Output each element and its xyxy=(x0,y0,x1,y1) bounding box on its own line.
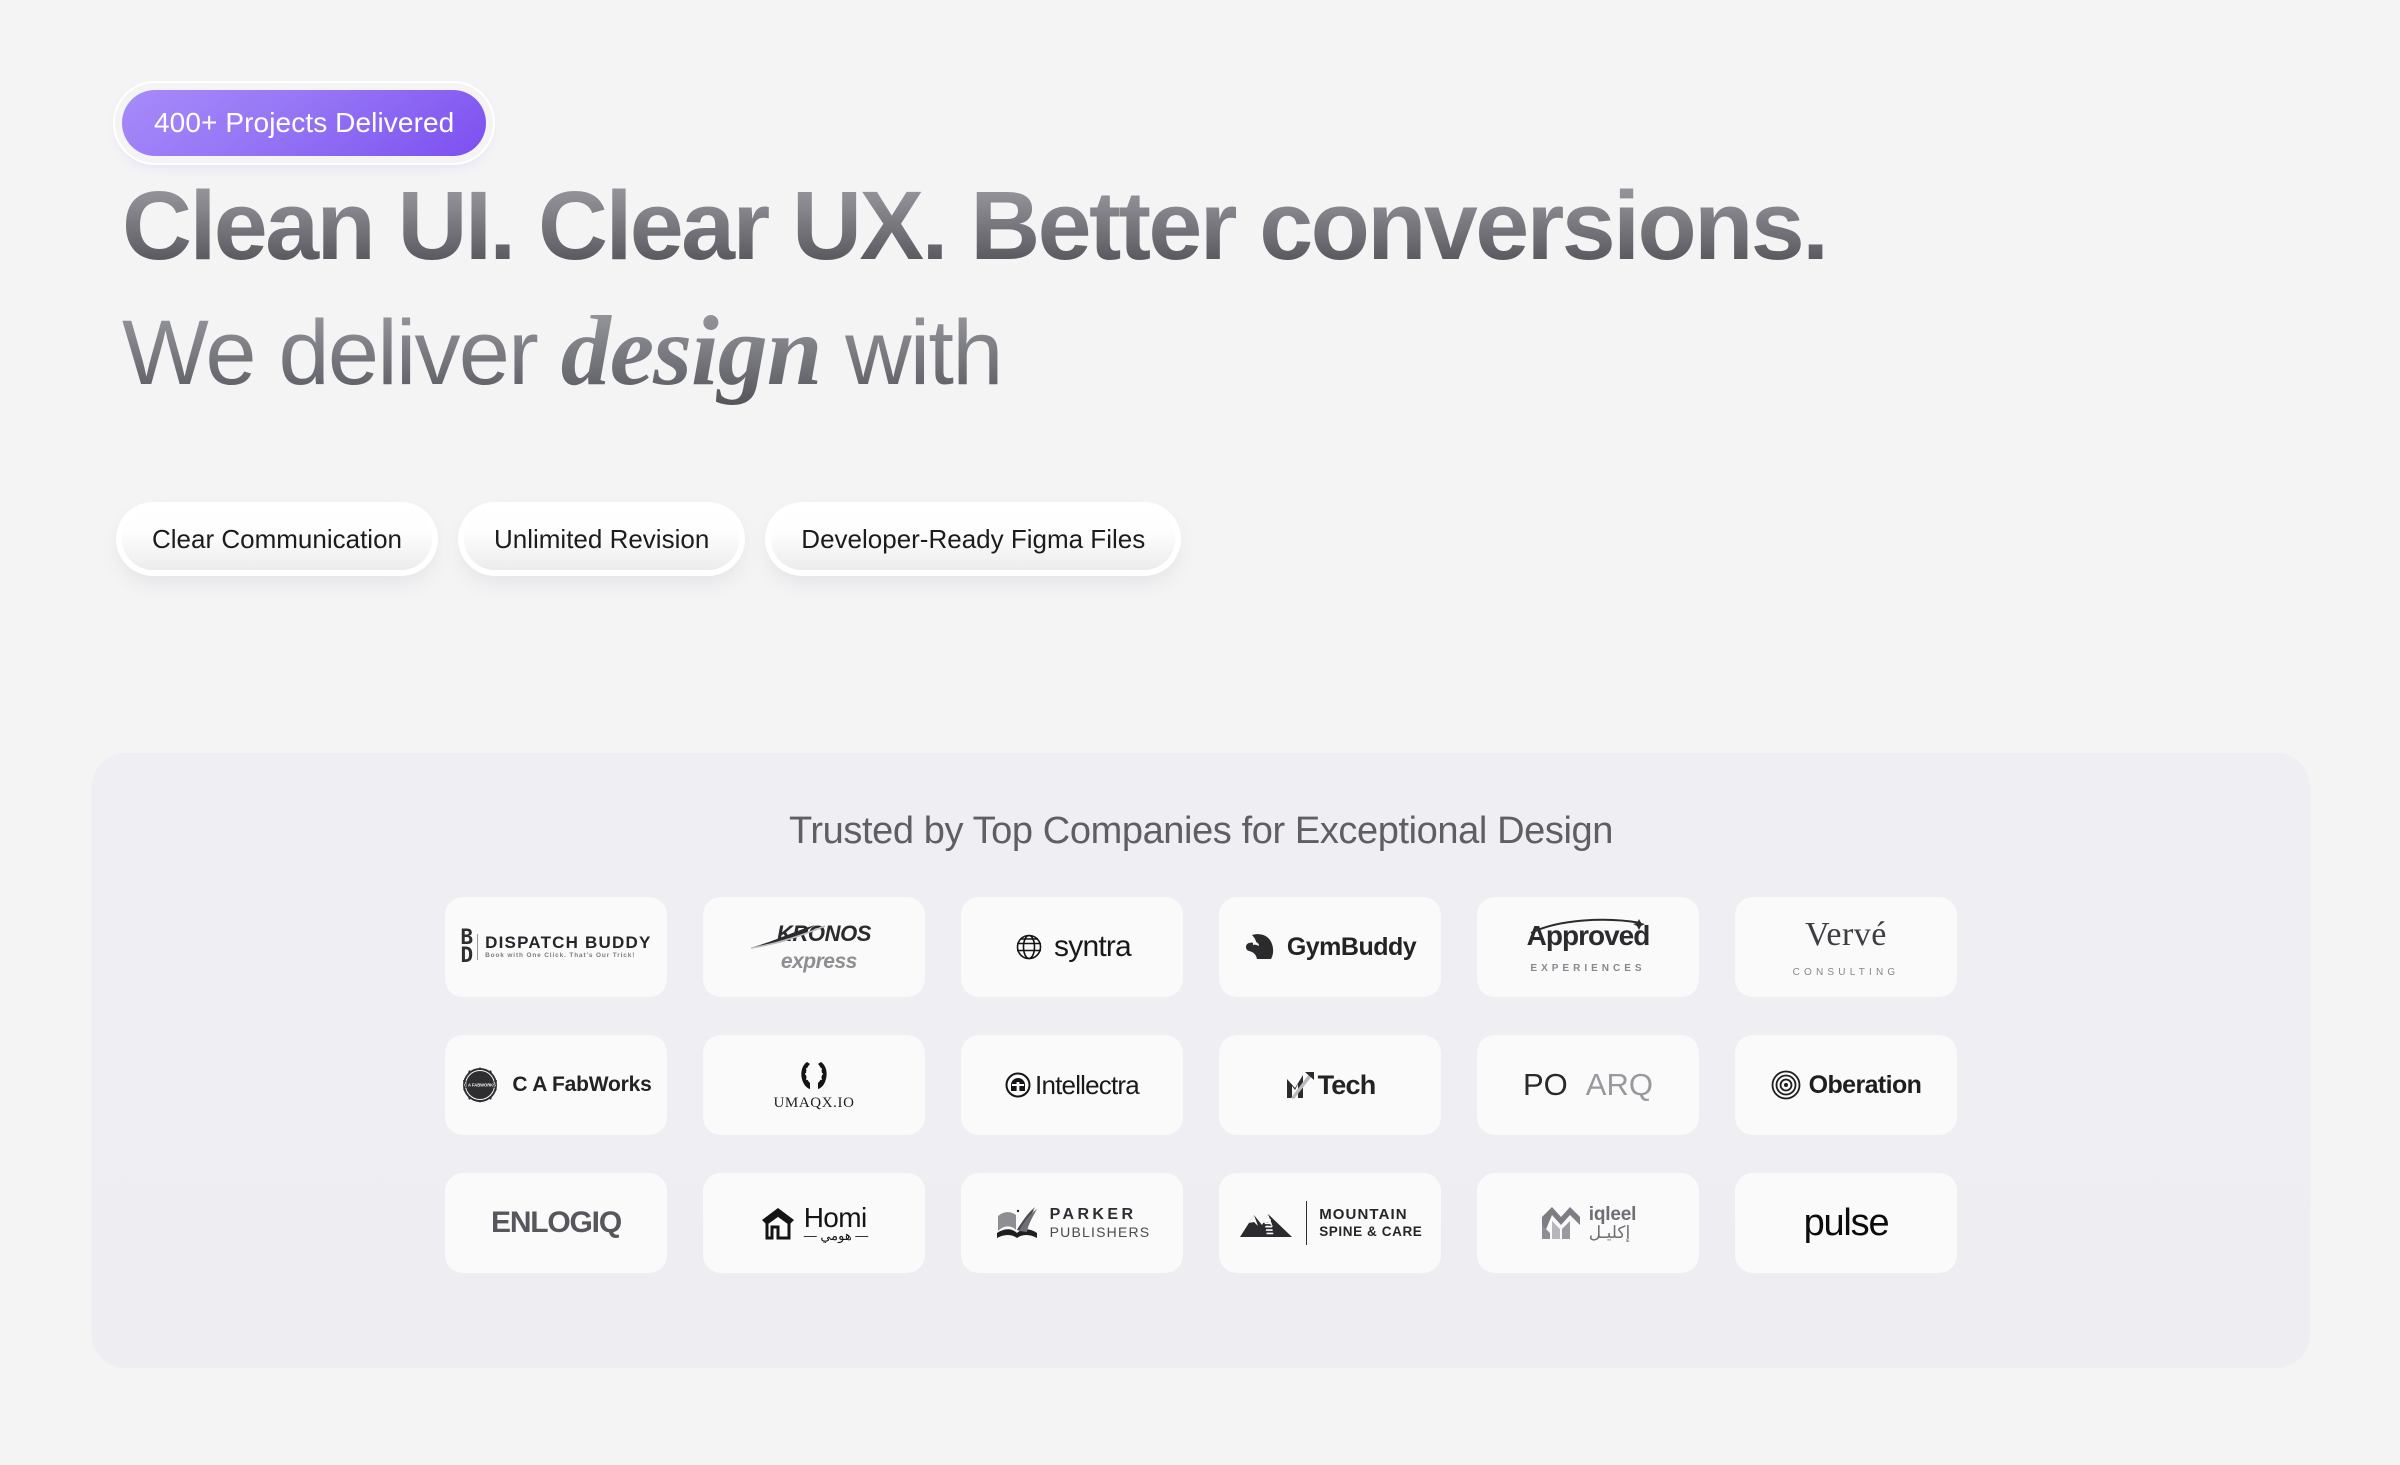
headline-line-2-before: We deliver xyxy=(122,302,561,404)
iqleel-m-mark-icon xyxy=(1540,1205,1582,1241)
mountain-spine-icon xyxy=(1238,1205,1294,1241)
client-logo-grid: BD DISPATCH BUDDY Book with One Click. T… xyxy=(205,897,2197,1273)
logo-wordmark-mountain: MOUNTAIN xyxy=(1319,1207,1422,1222)
logo-sub-spine-and-care: SPINE & CARE xyxy=(1319,1225,1422,1239)
logo-card-kronos-express[interactable]: KRONOS express xyxy=(703,897,925,997)
logo-wordmark-dispatch-buddy: DISPATCH BUDDY xyxy=(485,934,651,951)
logo-tagline-dispatch-buddy: Book with One Click. That's Our Trick! xyxy=(485,953,651,960)
logo-sub-verve-consulting: CONSULTING xyxy=(1793,967,1900,978)
logo-wordmark-pulse: pulse xyxy=(1804,1202,1889,1245)
logo-card-pulse[interactable]: pulse xyxy=(1735,1173,1957,1273)
horseshoe-icon xyxy=(797,1059,831,1093)
logo-wordmark-gymbuddy: GymBuddy xyxy=(1287,933,1416,962)
logo-wordmark-umaqx-io: UMAQX.IO xyxy=(773,1095,854,1112)
hero-headline: Clean UI. Clear UX. Better conversions. … xyxy=(122,170,2222,418)
logo-sub-approved-experiences: EXPERIENCES xyxy=(1530,963,1645,974)
headline-line-2-after: with xyxy=(821,302,1001,404)
feature-pill-clear-communication[interactable]: Clear Communication xyxy=(122,508,432,570)
divider xyxy=(1306,1201,1308,1245)
logo-wordmark-syntra: syntra xyxy=(1054,930,1131,964)
circle-target-icon xyxy=(1005,1072,1031,1098)
logo-wordmark-verve: Vervé xyxy=(1805,916,1887,954)
feature-pill-developer-ready-figma-files[interactable]: Developer-Ready Figma Files xyxy=(771,508,1175,570)
globe-icon xyxy=(1013,931,1045,963)
feature-pill-list: Clear Communication Unlimited Revision D… xyxy=(122,508,1175,570)
logo-card-dispatch-buddy[interactable]: BD DISPATCH BUDDY Book with One Click. T… xyxy=(445,897,667,997)
flexed-bicep-icon xyxy=(1244,932,1278,962)
headline-emphasis-design: design xyxy=(561,295,822,406)
arc-sparkle-icon xyxy=(1529,917,1649,935)
logo-wordmark-po: PO xyxy=(1523,1067,1568,1103)
logo-sub-arq: ARQ xyxy=(1586,1067,1653,1103)
logo-wordmark-ca-fabworks: C A FabWorks xyxy=(512,1073,651,1097)
logo-card-syntra[interactable]: syntra xyxy=(961,897,1183,997)
logo-sub-homi-arabic: — هومي — xyxy=(804,1229,869,1242)
headline-line-2: We deliver design with xyxy=(122,283,2222,418)
logo-wordmark-intellectra: Intellectra xyxy=(1035,1070,1139,1101)
hero-page: 400+ Projects Delivered Clean UI. Clear … xyxy=(0,0,2400,1465)
logo-card-verve-consulting[interactable]: Vervé CONSULTING xyxy=(1735,897,1957,997)
logo-wordmark-iqleel: iqleel xyxy=(1589,1205,1636,1224)
open-book-icon xyxy=(994,1203,1040,1243)
projects-delivered-badge-wrap: 400+ Projects Delivered xyxy=(122,90,486,156)
projects-delivered-badge[interactable]: 400+ Projects Delivered xyxy=(122,90,486,156)
m-arrow-icon xyxy=(1285,1070,1317,1100)
kronos-swoosh-icon xyxy=(751,923,871,949)
trusted-by-section: Trusted by Top Companies for Exceptional… xyxy=(92,753,2310,1367)
logo-wordmark-oberation: Oberation xyxy=(1809,1071,1922,1100)
logo-card-homi[interactable]: Homi — هومي — xyxy=(703,1173,925,1273)
logo-sub-iqleel-arabic: إكليـل xyxy=(1589,1224,1630,1241)
logo-card-iqleel[interactable]: iqleel إكليـل xyxy=(1477,1173,1699,1273)
logo-card-umaqx-io[interactable]: UMAQX.IO xyxy=(703,1035,925,1135)
gear-badge-icon: C A FABWORKS xyxy=(460,1065,500,1105)
concentric-circles-icon xyxy=(1771,1070,1801,1100)
divider xyxy=(477,934,478,960)
logo-card-mountain-spine-care[interactable]: MOUNTAIN SPINE & CARE xyxy=(1219,1173,1441,1273)
logo-card-intellectra[interactable]: Intellectra xyxy=(961,1035,1183,1135)
svg-text:C A FABWORKS: C A FABWORKS xyxy=(465,1083,497,1088)
logo-card-po-arq[interactable]: PO ARQ xyxy=(1477,1035,1699,1135)
logo-card-gymbuddy[interactable]: GymBuddy xyxy=(1219,897,1441,997)
logo-wordmark-enlogiq: ENLOGIQ xyxy=(491,1206,621,1240)
logo-card-mtech[interactable]: Tech xyxy=(1219,1035,1441,1135)
house-icon xyxy=(760,1205,796,1241)
logo-wordmark-parker: PARKER xyxy=(1050,1207,1137,1223)
dispatch-buddy-monogram-icon: BD xyxy=(461,929,471,965)
feature-pill-unlimited-revision[interactable]: Unlimited Revision xyxy=(464,508,739,570)
logo-card-ca-fabworks[interactable]: C A FABWORKS C A FabWorks xyxy=(445,1035,667,1135)
logo-card-oberation[interactable]: Oberation xyxy=(1735,1035,1957,1135)
logo-card-enlogiq[interactable]: ENLOGIQ xyxy=(445,1173,667,1273)
logo-wordmark-mtech: Tech xyxy=(1318,1070,1376,1101)
logo-card-parker-publishers[interactable]: PARKER PUBLISHERS xyxy=(961,1173,1183,1273)
logo-sub-publishers: PUBLISHERS xyxy=(1050,1225,1151,1239)
logo-card-approved-experiences[interactable]: Approved EXPERIENCES xyxy=(1477,897,1699,997)
trusted-by-title: Trusted by Top Companies for Exceptional… xyxy=(92,810,2310,853)
headline-line-1: Clean UI. Clear UX. Better conversions. xyxy=(122,170,2222,283)
logo-sub-kronos-express: express xyxy=(781,950,857,974)
